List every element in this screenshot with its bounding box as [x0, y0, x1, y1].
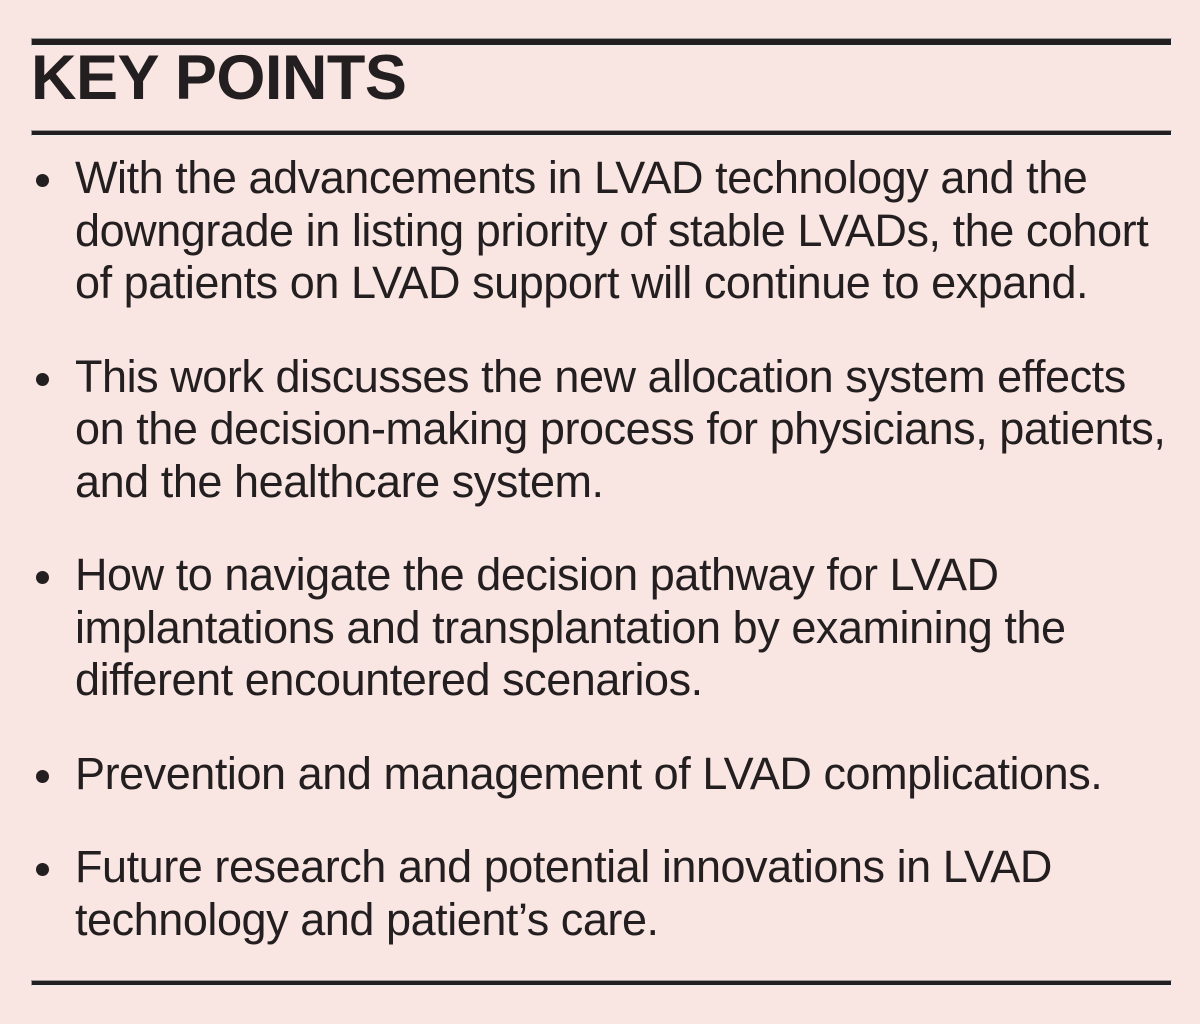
- list-item-text: This work discusses the new allocation s…: [75, 351, 1176, 509]
- page-title: KEY POINTS: [31, 45, 406, 111]
- list-item-text: Prevention and management of LVAD compli…: [75, 748, 1176, 801]
- list-item-text: How to navigate the decision pathway for…: [75, 549, 1176, 707]
- bullet-dot-icon: [36, 863, 49, 876]
- list-item-text: With the advancements in LVAD technology…: [75, 152, 1176, 310]
- bullet-dot-icon: [36, 174, 49, 187]
- list-item: How to navigate the decision pathway for…: [31, 549, 1176, 707]
- bullet-dot-icon: [36, 373, 49, 386]
- bullet-dot-icon: [36, 571, 49, 584]
- list-item-text: Future research and potential innovation…: [75, 841, 1176, 946]
- list-item: Future research and potential innovation…: [31, 841, 1176, 946]
- key-points-panel: KEY POINTS With the advancements in LVAD…: [0, 0, 1200, 1024]
- list-item: This work discusses the new allocation s…: [31, 351, 1176, 509]
- list-item: Prevention and management of LVAD compli…: [31, 748, 1176, 801]
- bottom-divider-rule: [31, 980, 1172, 986]
- title-underline-rule: [31, 130, 1172, 136]
- key-points-list: With the advancements in LVAD technology…: [31, 152, 1176, 946]
- list-item: With the advancements in LVAD technology…: [31, 152, 1176, 310]
- bullet-dot-icon: [36, 770, 49, 783]
